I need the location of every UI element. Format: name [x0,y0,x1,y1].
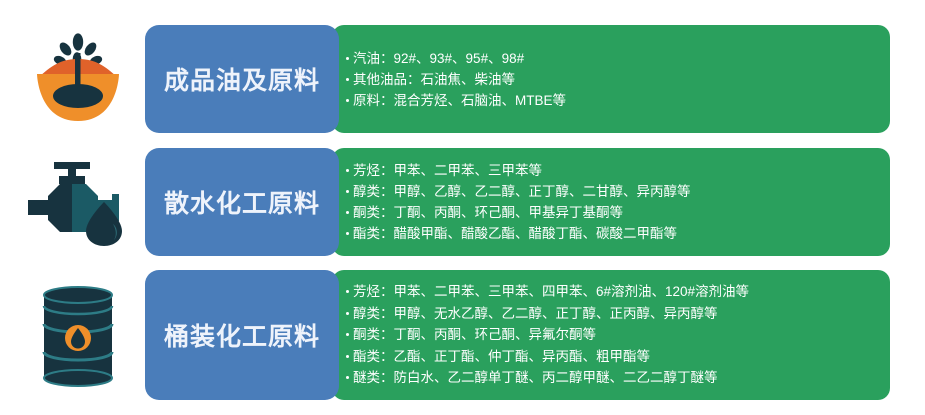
category-label-text: 成品油及原料 [164,61,320,97]
category-row-refined-oil: 成品油及原料 汽油：92#、93#、95#、98# 其他油品：石油焦、柴油等 原… [0,25,925,133]
list-item: 酯类：乙酯、正丁酯、仲丁酯、异丙酯、粗甲酯等 [346,346,880,368]
list-item-text: 芳烃：甲苯、二甲苯、三甲苯、四甲苯、6#溶剂油、120#溶剂油等 [353,281,749,303]
oil-drum-icon [18,270,138,400]
category-label-text: 桶装化工原料 [164,317,320,353]
list-item-text: 原料：混合芳烃、石脑油、MTBE等 [353,90,566,111]
list-item-text: 酯类：醋酸甲酯、醋酸乙酯、醋酸丁酯、碳酸二甲酯等 [353,223,677,244]
bullet-dot-icon [346,211,349,214]
category-label-refined-oil[interactable]: 成品油及原料 [145,25,339,133]
bullet-dot-icon [346,333,349,336]
category-label-drummed-chemicals[interactable]: 桶装化工原料 [145,270,339,400]
list-item-text: 醇类：甲醇、无水乙醇、乙二醇、正丁醇、正丙醇、异丙醇等 [353,303,718,325]
list-item-text: 芳烃：甲苯、二甲苯、三甲苯等 [353,160,542,181]
category-details-bulk-chemicals: 芳烃：甲苯、二甲苯、三甲苯等 醇类：甲醇、乙醇、乙二醇、正丁醇、二甘醇、异丙醇等… [332,148,890,256]
list-item: 原料：混合芳烃、石脑油、MTBE等 [346,90,880,111]
valve-with-droplet-icon [18,148,138,256]
bullet-dot-icon [346,232,349,235]
category-row-bulk-chemicals: 散水化工原料 芳烃：甲苯、二甲苯、三甲苯等 醇类：甲醇、乙醇、乙二醇、正丁醇、二… [0,148,925,256]
list-item: 其他油品：石油焦、柴油等 [346,69,880,90]
list-item-text: 酮类：丁酮、丙酮、环己酮、甲基异丁基酮等 [353,202,623,223]
bullet-dot-icon [346,99,349,102]
list-item: 酯类：醋酸甲酯、醋酸乙酯、醋酸丁酯、碳酸二甲酯等 [346,223,880,244]
list-item-text: 酯类：乙酯、正丁酯、仲丁酯、异丙酯、粗甲酯等 [353,346,650,368]
list-item: 醇类：甲醇、乙醇、乙二醇、正丁醇、二甘醇、异丙醇等 [346,181,880,202]
list-item-text: 汽油：92#、93#、95#、98# [353,48,524,69]
bullet-dot-icon [346,355,349,358]
product-category-board: 成品油及原料 汽油：92#、93#、95#、98# 其他油品：石油焦、柴油等 原… [0,0,925,415]
list-item: 芳烃：甲苯、二甲苯、三甲苯等 [346,160,880,181]
bullet-dot-icon [346,290,349,293]
bullet-dot-icon [346,312,349,315]
list-item-text: 其他油品：石油焦、柴油等 [353,69,515,90]
bullet-dot-icon [346,78,349,81]
list-item-text: 酮类：丁酮、丙酮、环己酮、异氟尔酮等 [353,324,596,346]
bullet-dot-icon [346,190,349,193]
list-item: 醚类：防白水、乙二醇单丁醚、丙二醇甲醚、二乙二醇丁醚等 [346,367,880,389]
list-item: 酮类：丁酮、丙酮、环己酮、甲基异丁基酮等 [346,202,880,223]
bullet-dot-icon [346,57,349,60]
oil-well-gusher-icon [18,25,138,133]
list-item-text: 醇类：甲醇、乙醇、乙二醇、正丁醇、二甘醇、异丙醇等 [353,181,691,202]
bullet-dot-icon [346,376,349,379]
list-item: 醇类：甲醇、无水乙醇、乙二醇、正丁醇、正丙醇、异丙醇等 [346,303,880,325]
list-item: 汽油：92#、93#、95#、98# [346,48,880,69]
list-item-text: 醚类：防白水、乙二醇单丁醚、丙二醇甲醚、二乙二醇丁醚等 [353,367,718,389]
category-label-bulk-chemicals[interactable]: 散水化工原料 [145,148,339,256]
category-label-text: 散水化工原料 [164,184,320,220]
bullet-dot-icon [346,169,349,172]
list-item: 酮类：丁酮、丙酮、环己酮、异氟尔酮等 [346,324,880,346]
list-item: 芳烃：甲苯、二甲苯、三甲苯、四甲苯、6#溶剂油、120#溶剂油等 [346,281,880,303]
category-details-drummed-chemicals: 芳烃：甲苯、二甲苯、三甲苯、四甲苯、6#溶剂油、120#溶剂油等 醇类：甲醇、无… [332,270,890,400]
category-details-refined-oil: 汽油：92#、93#、95#、98# 其他油品：石油焦、柴油等 原料：混合芳烃、… [332,25,890,133]
category-row-drummed-chemicals: 桶装化工原料 芳烃：甲苯、二甲苯、三甲苯、四甲苯、6#溶剂油、120#溶剂油等 … [0,270,925,400]
